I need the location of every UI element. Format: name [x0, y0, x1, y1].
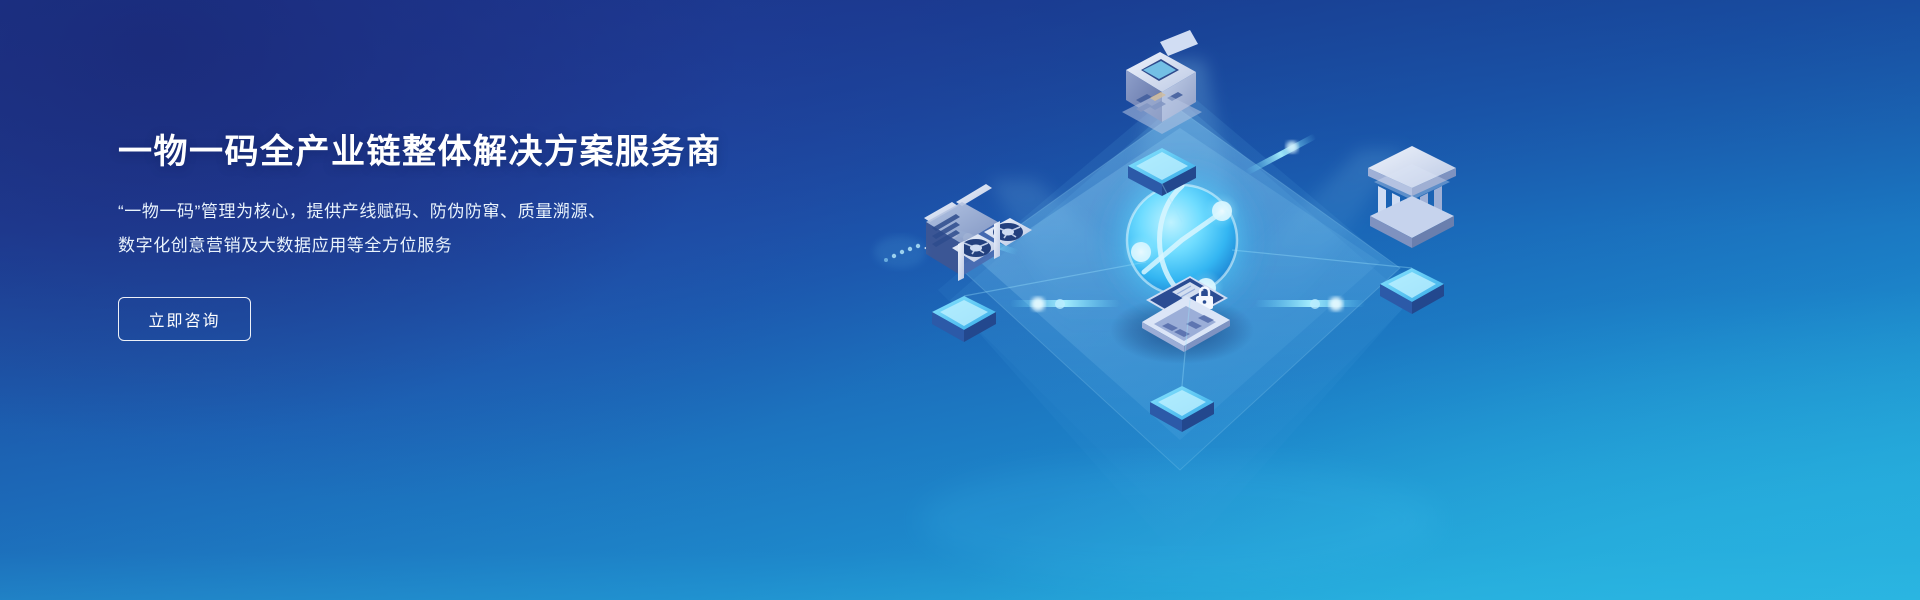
hero-illustration	[860, 0, 1640, 600]
subtitle-line-2: 数字化创意营销及大数据应用等全方位服务	[118, 229, 838, 263]
subtitle-line-1: “一物一码”管理为核心，提供产线赋码、防伪防窜、质量溯源、	[118, 195, 838, 229]
pos-terminal-icon	[1122, 30, 1202, 134]
consult-now-button[interactable]: 立即咨询	[118, 297, 251, 341]
bottom-glow	[920, 460, 1440, 580]
page-title: 一物一码全产业链整体解决方案服务商	[118, 132, 838, 173]
airflow-particles	[874, 236, 926, 268]
hero-copy: 一物一码全产业链整体解决方案服务商 “一物一码”管理为核心，提供产线赋码、防伪防…	[118, 132, 838, 341]
hero-banner: 一物一码全产业链整体解决方案服务商 “一物一码”管理为核心，提供产线赋码、防伪防…	[0, 0, 1920, 600]
hero-subtitle: “一物一码”管理为核心，提供产线赋码、防伪防窜、质量溯源、 数字化创意营销及大数…	[118, 195, 838, 263]
